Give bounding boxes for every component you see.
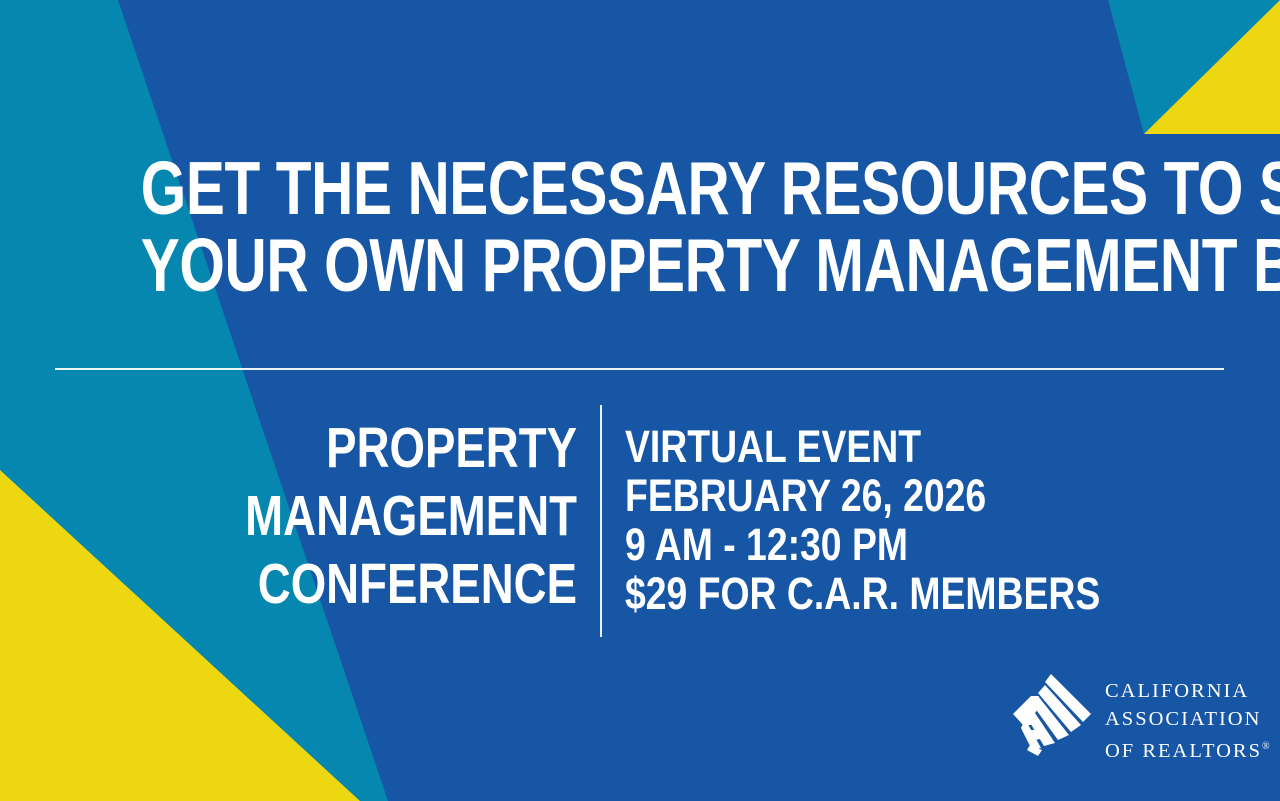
event-price: $29 FOR C.A.R. MEMBERS <box>625 569 1100 618</box>
car-diamond-icon <box>1005 668 1097 768</box>
vertical-divider-rule <box>600 405 602 637</box>
details-row: PROPERTY MANAGEMENT CONFERENCE VIRTUAL E… <box>0 405 1280 645</box>
logo-wordmark: CALIFORNIA ASSOCIATION OF REALTORS® <box>1105 677 1270 765</box>
headline-divider-rule <box>55 368 1224 370</box>
registered-trademark-icon: ® <box>1262 741 1270 752</box>
event-promo-banner: GET THE NECESSARY RESOURCES TO SUPPORT Y… <box>0 0 1280 801</box>
logo-line-of-realtors: OF REALTORS® <box>1105 733 1270 765</box>
event-date: FEBRUARY 26, 2026 <box>625 471 1100 520</box>
conference-title-line-1: PROPERTY <box>115 414 577 482</box>
organization-logo: CALIFORNIA ASSOCIATION OF REALTORS® <box>1005 668 1240 770</box>
headline-line-1: GET THE NECESSARY RESOURCES TO SUPPORT <box>141 150 1139 227</box>
event-details: VIRTUAL EVENT FEBRUARY 26, 2026 9 AM - 1… <box>625 422 1198 618</box>
conference-title: PROPERTY MANAGEMENT CONFERENCE <box>0 414 577 618</box>
logo-line-of-realtors-text: OF REALTORS <box>1105 740 1262 762</box>
event-format: VIRTUAL EVENT <box>625 422 1100 471</box>
conference-title-line-3: CONFERENCE <box>115 550 577 618</box>
headline: GET THE NECESSARY RESOURCES TO SUPPORT Y… <box>0 150 1280 304</box>
conference-title-line-2: MANAGEMENT <box>115 482 577 550</box>
logo-line-association: ASSOCIATION <box>1105 705 1270 733</box>
headline-line-2: YOUR OWN PROPERTY MANAGEMENT BUSINESS <box>141 227 1139 304</box>
logo-line-california: CALIFORNIA <box>1105 677 1270 705</box>
event-time: 9 AM - 12:30 PM <box>625 520 1100 569</box>
